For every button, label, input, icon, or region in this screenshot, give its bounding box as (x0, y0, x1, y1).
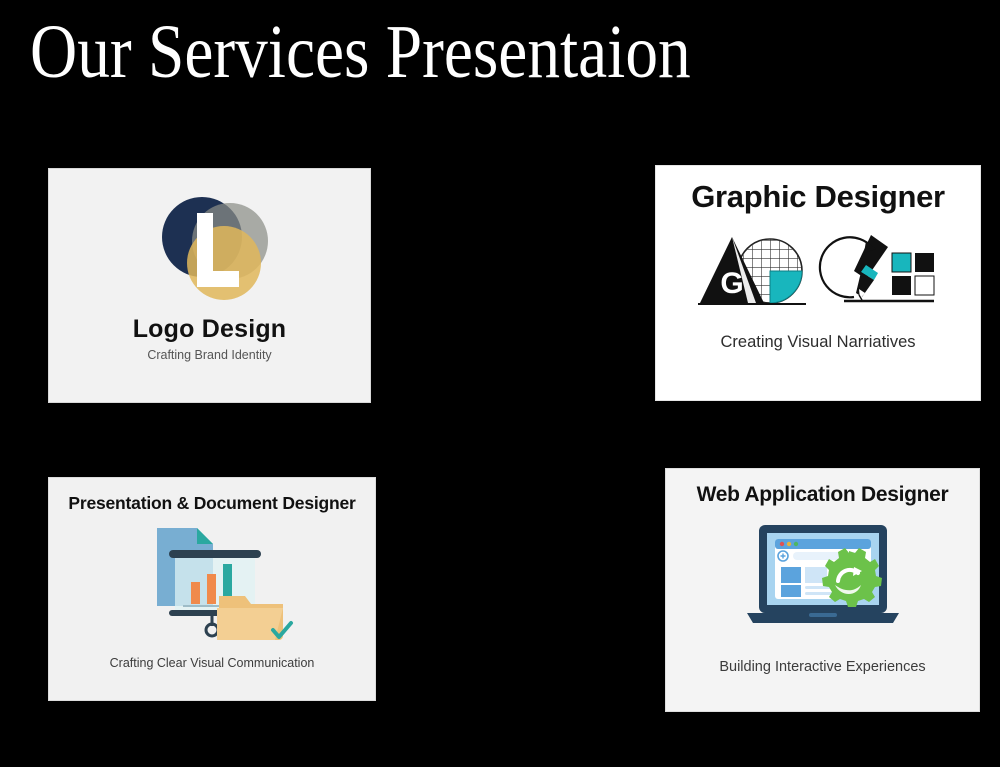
web-designer-artwork (666, 521, 979, 637)
card-web-designer[interactable]: Web Application Designer (665, 468, 980, 712)
presentation-slide: Our Services Presentaion Logo Design Cra… (0, 0, 1000, 767)
card-subtitle-logo-design: Crafting Brand Identity (49, 348, 370, 362)
card-logo-design[interactable]: Logo Design Crafting Brand Identity (48, 168, 371, 403)
laptop-browser-gear-icon (737, 521, 909, 637)
card-title-logo-design: Logo Design (49, 315, 370, 344)
card-subtitle-presentation-designer: Crafting Clear Visual Communication (49, 656, 375, 670)
page-title: Our Services Presentaion (30, 8, 838, 96)
svg-text:G: G (720, 267, 743, 300)
document-chart-folder-icon (127, 520, 297, 642)
presentation-designer-artwork (49, 520, 375, 642)
card-title-graphic-designer: Graphic Designer (656, 179, 980, 215)
card-presentation-designer[interactable]: Presentation & Document Designer (48, 477, 376, 701)
card-title-presentation-designer: Presentation & Document Designer (49, 493, 375, 514)
logo-design-artwork (49, 191, 370, 309)
card-subtitle-web-designer: Building Interactive Experiences (666, 659, 979, 675)
graphic-designer-artwork: G (656, 231, 980, 307)
card-subtitle-graphic-designer: Creating Visual Narriatives (656, 333, 980, 352)
card-title-web-designer: Web Application Designer (666, 483, 979, 507)
card-graphic-designer[interactable]: Graphic Designer G (655, 165, 981, 401)
triangle-grid-pen-swatches-icon: G (698, 231, 938, 307)
overlapping-circles-logo-mark-icon (140, 191, 280, 309)
